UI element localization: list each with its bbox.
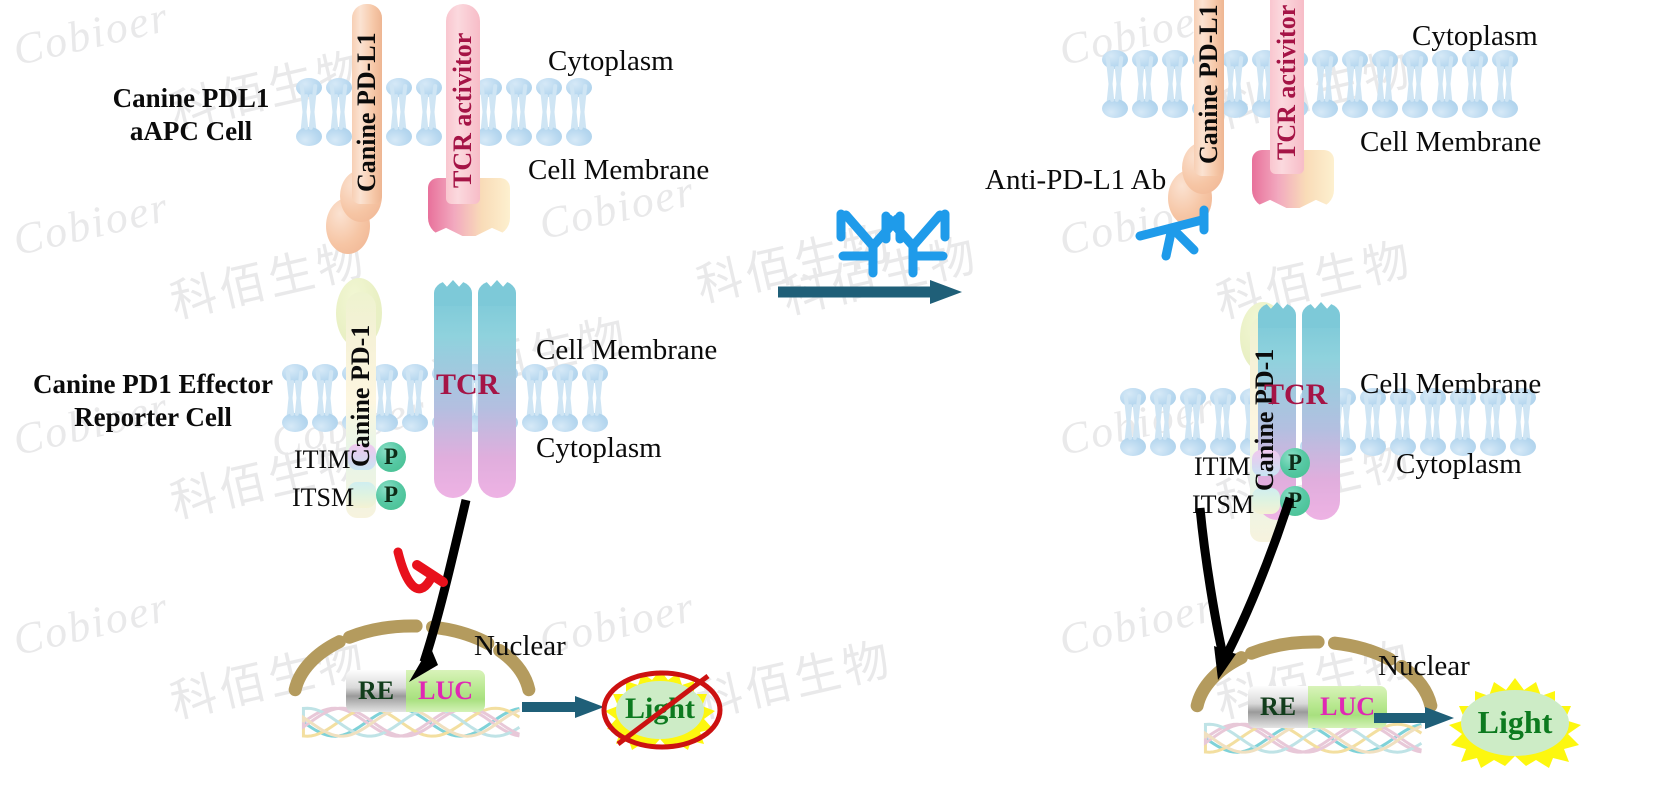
anti-pdl1-ab-label: Anti-PD-L1 Ab bbox=[985, 164, 1166, 197]
phospholipid bbox=[1420, 392, 1446, 456]
itim-label-right: ITIM bbox=[1194, 452, 1250, 482]
pd1-signal-arrow-right bbox=[1200, 508, 1224, 660]
dna-strand bbox=[303, 708, 519, 736]
phospholipid bbox=[1312, 54, 1338, 118]
phospholipid bbox=[402, 368, 428, 432]
light-output-right: Light bbox=[1440, 676, 1590, 768]
watermark-cjk: 科佰生物 bbox=[775, 218, 985, 327]
pdl1-label-right: Canine PD-L1 bbox=[1194, 0, 1224, 184]
nucleus-label-left: Nuclear bbox=[474, 630, 566, 663]
pd1-inhibition-arrow bbox=[398, 552, 430, 589]
tcr-chain-beta-right bbox=[1302, 318, 1340, 520]
phospholipid bbox=[1372, 54, 1398, 118]
dna-strand bbox=[1205, 724, 1421, 752]
phospholipid bbox=[1102, 54, 1128, 118]
light-label-left: Light bbox=[625, 692, 695, 726]
effector-cell-title: Canine PD1 Effector Reporter Cell bbox=[18, 368, 288, 434]
phospholipid bbox=[1210, 392, 1236, 456]
dna-strand bbox=[1205, 724, 1421, 752]
dna-strand bbox=[303, 708, 519, 736]
apc-cell-title: Canine PDL1 aAPC Cell bbox=[96, 82, 286, 148]
watermark-latin: Cobioer bbox=[1054, 581, 1220, 666]
tcr-label-right: TCR bbox=[1264, 378, 1327, 412]
nuclear-envelope-segment bbox=[1197, 658, 1241, 706]
apc-cell-membrane-label-right: Cell Membrane bbox=[1360, 126, 1541, 159]
luciferase-output-arrow-left bbox=[522, 696, 604, 718]
pd1-label: Canine PD-1 bbox=[344, 296, 378, 496]
dna-strand bbox=[1205, 724, 1421, 752]
tcr-label: TCR bbox=[436, 368, 499, 402]
phospholipid bbox=[1510, 392, 1536, 456]
watermark-cjk: 科佰生物 bbox=[163, 422, 373, 531]
apc-cell-title-line2: aAPC Cell bbox=[96, 115, 286, 148]
anti-pdl1-antibody-icon bbox=[1120, 196, 1230, 262]
effector-cytoplasm-label-right: Cytoplasm bbox=[1396, 448, 1522, 481]
response-element-box: RE bbox=[346, 670, 406, 712]
phospholipid bbox=[1120, 392, 1146, 456]
phospholipid bbox=[1402, 54, 1428, 118]
watermark-latin: Cobioer bbox=[8, 0, 174, 76]
itsm-phosphate-icon-right: P bbox=[1280, 486, 1310, 516]
phospholipid bbox=[506, 82, 532, 146]
tcr-activator-label: TCR activitor bbox=[446, 10, 480, 210]
phospholipid bbox=[1360, 392, 1386, 456]
effector-cell-membrane-label: Cell Membrane bbox=[536, 334, 717, 367]
phospholipid bbox=[1180, 392, 1206, 456]
phospholipid bbox=[326, 82, 352, 146]
phospholipid bbox=[1462, 54, 1488, 118]
phospholipid bbox=[1150, 392, 1176, 456]
watermark-latin: Cobioer bbox=[8, 581, 174, 666]
itim-label: ITIM bbox=[294, 445, 350, 475]
watermark-latin: Cobioer bbox=[8, 181, 174, 266]
dna-strand bbox=[303, 708, 519, 736]
dna-strand bbox=[1205, 724, 1421, 752]
phospholipid bbox=[1132, 54, 1158, 118]
phospholipid bbox=[416, 82, 442, 146]
dna-strand bbox=[303, 708, 519, 736]
apc-cell-title-line1: Canine PDL1 bbox=[96, 82, 286, 115]
tcr-activator-label-right: TCR activitor bbox=[1270, 0, 1304, 180]
pdl1-label: Canine PD-L1 bbox=[352, 12, 382, 212]
effector-cell-title-line2: Reporter Cell bbox=[18, 401, 288, 434]
effector-cell-membrane-label-right: Cell Membrane bbox=[1360, 368, 1541, 401]
apc-membrane-bilayer-right bbox=[1102, 50, 1522, 116]
phospholipid bbox=[1450, 392, 1476, 456]
luciferase-box: LUC bbox=[406, 670, 485, 712]
dna-strand bbox=[1205, 724, 1421, 752]
phospholipid bbox=[582, 368, 608, 432]
phospholipid bbox=[296, 82, 322, 146]
tcr-signal-arrowhead-right bbox=[1214, 646, 1236, 680]
itim-phosphate-icon-right: P bbox=[1280, 448, 1310, 478]
apc-cytoplasm-label: Cytoplasm bbox=[548, 45, 674, 78]
phospholipid bbox=[386, 82, 412, 146]
phospholipid bbox=[566, 82, 592, 146]
phospholipid bbox=[1390, 392, 1416, 456]
watermark-cjk: 科佰生物 bbox=[163, 622, 373, 731]
itsm-label-right: ITSM bbox=[1192, 490, 1254, 520]
nuclear-envelope-segment bbox=[349, 626, 416, 637]
dna-strand bbox=[303, 708, 519, 736]
effector-cell-title-line1: Canine PD1 Effector bbox=[18, 368, 288, 401]
nuclear-envelope-segment bbox=[295, 642, 339, 690]
reporter-gene-construct-left: RE LUC bbox=[346, 670, 485, 712]
dna-strand bbox=[303, 708, 519, 736]
pd1-inhibition-tbar bbox=[417, 565, 443, 582]
reporter-gene-construct-right: RE LUC bbox=[1248, 686, 1387, 728]
nucleus-label-right: Nuclear bbox=[1378, 650, 1470, 683]
itim-phosphate-icon: P bbox=[376, 442, 406, 472]
tcr-signal-arrow-left bbox=[424, 500, 466, 662]
phospholipid bbox=[1162, 54, 1188, 118]
nuclear-envelope-segment bbox=[1251, 642, 1318, 653]
phospholipid bbox=[1492, 54, 1518, 118]
luciferase-box-right: LUC bbox=[1308, 686, 1387, 728]
response-element-box-right: RE bbox=[1248, 686, 1308, 728]
phospholipid bbox=[552, 368, 578, 432]
phospholipid bbox=[536, 82, 562, 146]
phospholipid bbox=[1342, 54, 1368, 118]
phospholipid bbox=[522, 368, 548, 432]
diagram-canvas: Cobioer 科佰生物 Cobioer 科佰生物 Cobioer 科佰生物 C… bbox=[0, 0, 1663, 812]
phospholipid bbox=[1432, 54, 1458, 118]
itsm-phosphate-icon: P bbox=[376, 480, 406, 510]
dna-strand bbox=[1205, 724, 1421, 752]
light-label-right: Light bbox=[1478, 704, 1553, 741]
phospholipid bbox=[312, 368, 338, 432]
antibody-icon bbox=[841, 214, 900, 273]
phospholipid bbox=[1480, 392, 1506, 456]
antibody-icon bbox=[886, 214, 945, 273]
apc-cytoplasm-label-right: Cytoplasm bbox=[1412, 20, 1538, 53]
pd1-label-right: Canine PD-1 bbox=[1248, 320, 1282, 520]
watermark-cjk: 科佰生物 bbox=[689, 206, 899, 315]
phospholipid bbox=[1222, 54, 1248, 118]
apc-cell-membrane-label: Cell Membrane bbox=[528, 154, 709, 187]
effector-cytoplasm-label: Cytoplasm bbox=[536, 432, 662, 465]
light-output-left: Light bbox=[598, 668, 722, 750]
transition-arrow bbox=[778, 280, 962, 304]
